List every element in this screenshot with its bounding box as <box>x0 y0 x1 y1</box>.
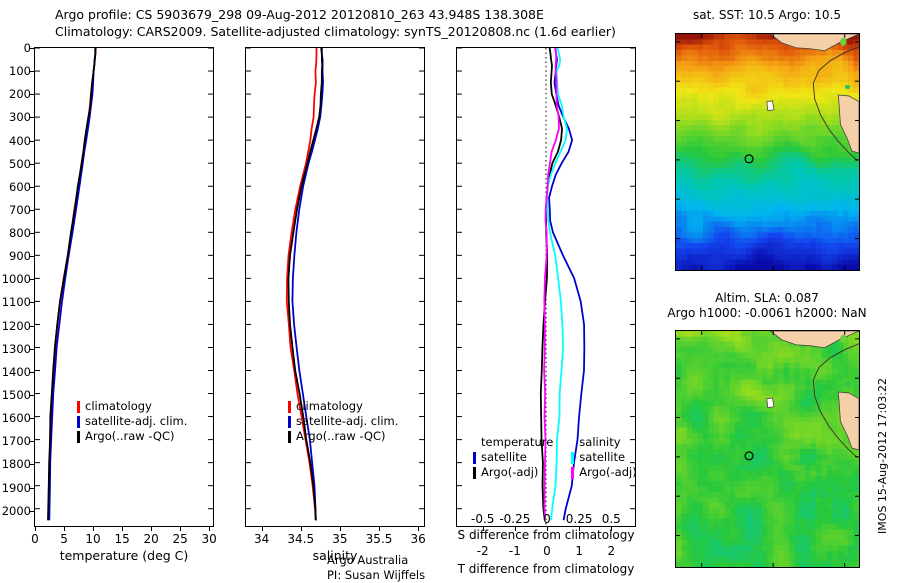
legend-color-swatch <box>571 452 574 464</box>
depth-tick <box>30 279 35 280</box>
depth-tick <box>30 488 35 489</box>
depth-tick <box>30 48 35 49</box>
legend-label: satellite-adj. clim. <box>296 414 398 429</box>
depth-tick-label: 800 <box>9 226 31 240</box>
x-tick-label: 0.25 <box>566 512 593 526</box>
legend-color-swatch <box>288 431 291 443</box>
x-tick <box>180 526 181 531</box>
x-tick <box>418 526 419 531</box>
legend-color-swatch <box>473 452 476 464</box>
depth-tick-label: 1300 <box>2 342 31 356</box>
legend-color-swatch <box>77 401 80 413</box>
legend-color-swatch <box>288 401 291 413</box>
legend-label: Argo(-adj) <box>579 465 636 480</box>
temperature-profile-panel: 0100200300400500600700800900100011001200… <box>34 47 214 527</box>
title-line-2: Climatology: CARS2009. Satellite-adjuste… <box>55 23 655 40</box>
sst-map[interactable]: -38-40-42-44-46-48135140145 <box>675 33 860 271</box>
depth-tick-label: 1100 <box>2 295 31 309</box>
x-tick <box>262 526 263 531</box>
depth-tick-label: 200 <box>9 87 31 101</box>
depth-tick <box>30 117 35 118</box>
x-tick-label: 0.5 <box>602 512 621 526</box>
x-tick <box>151 526 152 531</box>
legend-label: satellite <box>579 450 625 465</box>
depth-tick-label: 400 <box>9 134 31 148</box>
legend-item: Argo(-adj) <box>571 465 636 480</box>
temperature-plot-area <box>35 48 213 526</box>
depth-tick <box>30 511 35 512</box>
sst-map-title: sat. SST: 10.5 Argo: 10.5 <box>693 8 841 23</box>
x-tick-label: 34 <box>254 532 269 546</box>
depth-tick-label: 500 <box>9 157 31 171</box>
legend-label: climatology <box>296 399 363 414</box>
legend-color-swatch <box>77 431 80 443</box>
title-line-1: Argo profile: CS 5903679_298 09-Aug-2012… <box>55 6 655 23</box>
x-tick-label: 0 <box>543 544 551 558</box>
difference-legend: temperaturesatelliteArgo(-adj)salinitysa… <box>473 435 637 480</box>
x-tick-label: 15 <box>114 532 129 546</box>
legend-label: climatology <box>85 399 152 414</box>
x-tick-label: 1 <box>575 544 583 558</box>
depth-tick-label: 900 <box>9 249 31 263</box>
depth-tick <box>30 395 35 396</box>
depth-tick-label: 300 <box>9 110 31 124</box>
legend-group: salinitysatelliteArgo(-adj) <box>571 435 636 480</box>
sla-map-canvas <box>676 331 859 567</box>
depth-tick <box>30 233 35 234</box>
legend-color-swatch <box>77 416 80 428</box>
legend-item: Argo(..raw -QC) <box>288 429 398 444</box>
x-tick-label: -0.5 <box>471 512 494 526</box>
depth-tick <box>30 349 35 350</box>
legend-group-heading: salinity <box>579 435 636 450</box>
sla-map-title-line-1: Altim. SLA: 0.087 <box>715 291 819 306</box>
legend-label: Argo(-adj) <box>481 465 538 480</box>
depth-tick <box>30 372 35 373</box>
legend-item: satellite <box>473 450 553 465</box>
legend-group-heading: temperature <box>481 435 553 450</box>
x-tick <box>64 526 65 531</box>
depth-tick <box>30 302 35 303</box>
depth-tick <box>30 94 35 95</box>
depth-tick-label: 1000 <box>2 272 31 286</box>
credit-line-2: PI: Susan Wijffels <box>327 568 425 583</box>
depth-tick <box>30 441 35 442</box>
legend-item: satellite <box>571 450 636 465</box>
salinity-profile-panel: 3434.53535.536 salinity climatologysatel… <box>245 47 425 527</box>
depth-tick-label: 100 <box>9 64 31 78</box>
x-tick-label: 0 <box>31 532 39 546</box>
credit-line-1: Argo Australia <box>327 553 425 568</box>
legend-item: Argo(-adj) <box>473 465 553 480</box>
depth-tick-label: 1900 <box>2 481 31 495</box>
x-tick-label: 25 <box>173 532 188 546</box>
legend-label: Argo(..raw -QC) <box>296 429 386 444</box>
x-tick <box>301 526 302 531</box>
depth-tick-label: 1200 <box>2 319 31 333</box>
x-tick <box>340 526 341 531</box>
t-difference-axis-title: T difference from climatology <box>458 562 635 576</box>
sla-map[interactable]: -38-40-42-44-46-48135140145 <box>675 330 860 568</box>
x-tick <box>122 526 123 531</box>
x-tick-label: 30 <box>202 532 217 546</box>
legend-color-swatch <box>473 467 476 479</box>
legend-item: satellite-adj. clim. <box>77 414 187 429</box>
x-tick-label: -0.25 <box>499 512 530 526</box>
depth-tick <box>30 464 35 465</box>
x-tick-label: 35 <box>332 532 347 546</box>
sla-map-title-line-2: Argo h1000: -0.0061 h2000: NaN <box>667 306 866 321</box>
depth-tick <box>30 418 35 419</box>
temperature-legend: climatologysatellite-adj. clim.Argo(..ra… <box>77 399 187 444</box>
legend-label: satellite-adj. clim. <box>85 414 187 429</box>
x-tick-label: -1 <box>509 544 521 558</box>
legend-item: satellite-adj. clim. <box>288 414 398 429</box>
depth-tick-label: 1500 <box>2 388 31 402</box>
depth-tick-label: 1400 <box>2 365 31 379</box>
legend-item: Argo(..raw -QC) <box>77 429 187 444</box>
depth-tick-label: 1700 <box>2 434 31 448</box>
s-difference-axis-title: S difference from climatology <box>458 528 635 542</box>
depth-tick <box>30 141 35 142</box>
temperature-axis-title: temperature (deg C) <box>60 548 189 563</box>
depth-tick-label: 600 <box>9 180 31 194</box>
x-tick-label: 5 <box>60 532 68 546</box>
legend-item: climatology <box>288 399 398 414</box>
legend-item: climatology <box>77 399 187 414</box>
depth-tick <box>30 71 35 72</box>
x-tick-label: 36 <box>411 532 426 546</box>
salinity-plot-area <box>246 48 424 526</box>
depth-tick <box>30 210 35 211</box>
legend-columns: temperaturesatelliteArgo(-adj)salinitysa… <box>473 435 637 480</box>
sst-map-canvas <box>676 34 859 270</box>
x-tick-label: 2 <box>607 544 615 558</box>
salinity-legend: climatologysatellite-adj. clim.Argo(..ra… <box>288 399 398 444</box>
legend-label: Argo(..raw -QC) <box>85 429 175 444</box>
depth-tick-label: 2000 <box>2 504 31 518</box>
depth-tick-label: 1600 <box>2 411 31 425</box>
depth-tick-label: 700 <box>9 203 31 217</box>
x-tick-label: 34.5 <box>287 532 314 546</box>
x-tick-label: 0 <box>543 512 551 526</box>
x-tick-label: 20 <box>143 532 158 546</box>
legend-color-swatch <box>571 467 574 479</box>
x-tick-label: -2 <box>477 544 489 558</box>
depth-tick <box>30 164 35 165</box>
depth-tick <box>30 187 35 188</box>
legend-color-swatch <box>288 416 291 428</box>
imos-timestamp: IMOS 15-Aug-2012 17:03:22 <box>876 378 889 534</box>
x-tick <box>35 526 36 531</box>
legend-group: temperaturesatelliteArgo(-adj) <box>473 435 553 480</box>
x-tick <box>379 526 380 531</box>
x-tick <box>209 526 210 531</box>
difference-profile-panel: -0.5-0.2500.250.5 -2-1012 S difference f… <box>456 47 636 527</box>
x-tick <box>93 526 94 531</box>
x-tick-label: 10 <box>85 532 100 546</box>
depth-tick-label: 1800 <box>2 457 31 471</box>
page-title: Argo profile: CS 5903679_298 09-Aug-2012… <box>55 6 655 40</box>
depth-tick <box>30 256 35 257</box>
x-tick-label: 35.5 <box>366 532 393 546</box>
legend-label: satellite <box>481 450 527 465</box>
depth-tick <box>30 326 35 327</box>
